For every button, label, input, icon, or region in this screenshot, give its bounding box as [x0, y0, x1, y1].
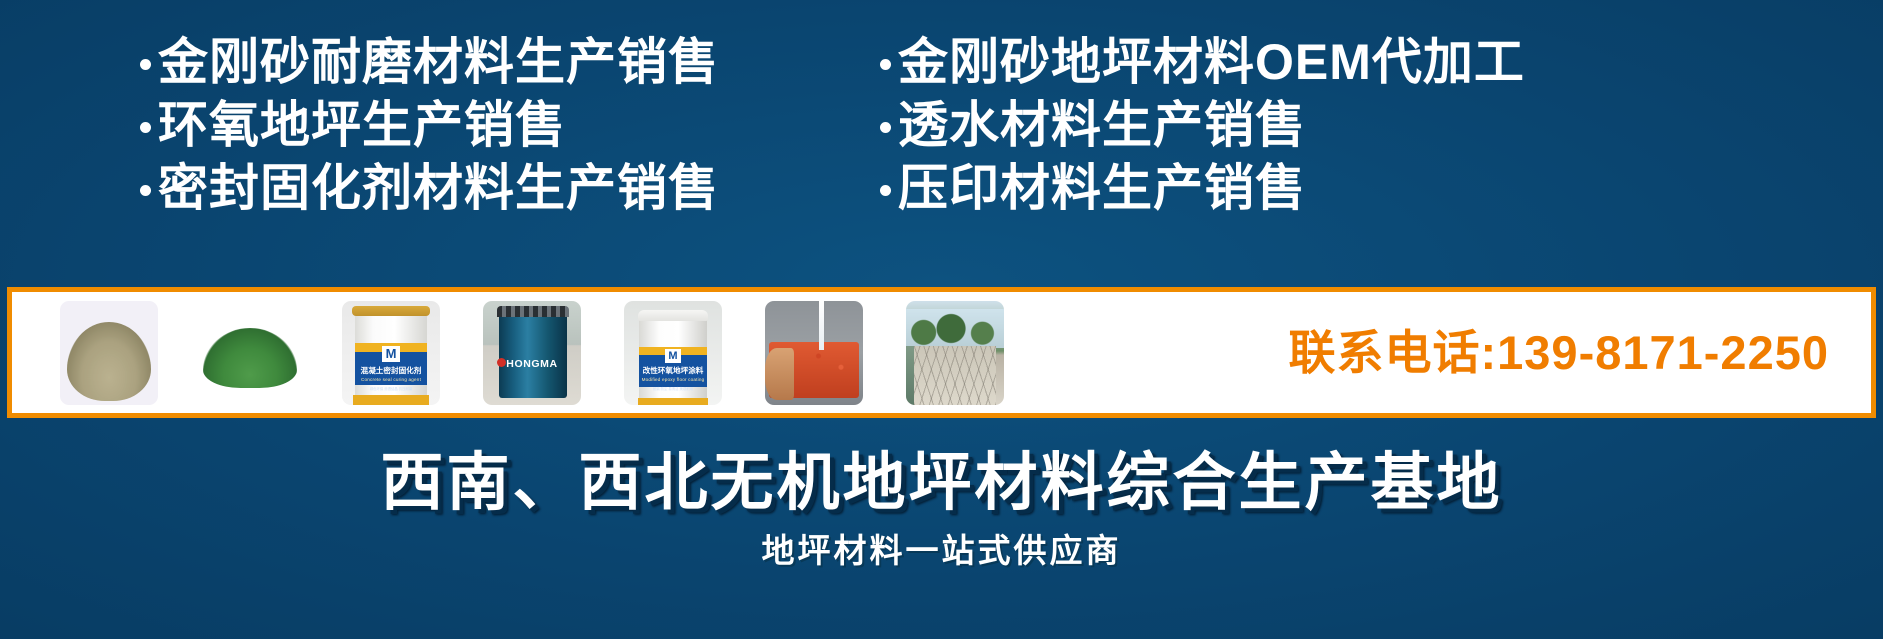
- feature-label: 密封固化剂材料生产销售: [158, 160, 719, 216]
- pail-lid: [638, 310, 709, 321]
- pail-lid: [352, 306, 430, 316]
- feature-item: 透水材料生产销售: [880, 97, 1580, 153]
- feature-label: 金刚砂耐磨材料生产销售: [158, 34, 719, 90]
- feature-item: 环氧地坪生产销售: [140, 97, 880, 153]
- headline: 西南、西北无机地坪材料综合生产基地: [0, 448, 1883, 518]
- pail-label-sub: 耐磨 防尘 易清洁 美观耐用: [624, 386, 722, 391]
- feature-item: 压印材料生产销售: [880, 160, 1580, 216]
- bullet-icon: [880, 59, 891, 70]
- pail-graphic: M 改性环氧地坪涂料 Modified epoxy floor coating …: [624, 301, 722, 405]
- drum-rim: [497, 306, 570, 317]
- subheadline: 地坪材料一站式供应商: [0, 532, 1883, 570]
- drum-body: [499, 310, 568, 398]
- bullet-icon: [140, 122, 151, 133]
- feature-column-left: 金刚砂耐磨材料生产销售 环氧地坪生产销售 密封固化剂材料生产销售: [140, 34, 880, 223]
- brand-logo-icon: M: [382, 346, 400, 362]
- product-thumbnail-epoxy-floor-coating-pail[interactable]: M 改性环氧地坪涂料 Modified epoxy floor coating …: [624, 301, 722, 405]
- pail-label-sub: 绿色环保 渗透结晶 抗压耐磨: [342, 386, 440, 391]
- bullet-icon: [880, 185, 891, 196]
- product-thumbnail-grey-abrasive-powder[interactable]: [60, 301, 158, 405]
- product-thumbnail-list: M 混凝土密封固化剂 Concrete seal curing agent 绿色…: [12, 292, 1004, 413]
- footer-text-block: 西南、西北无机地坪材料综合生产基地 地坪材料一站式供应商: [0, 448, 1883, 570]
- bullet-icon: [880, 122, 891, 133]
- paver-path: [914, 346, 996, 404]
- trees-background: [906, 309, 1004, 349]
- water-stream: [819, 301, 824, 351]
- product-thumbnail-permeable-paver-walkway[interactable]: [906, 301, 1004, 405]
- product-thumbnail-hongma-blue-drum[interactable]: HONGMA: [483, 301, 581, 405]
- drum-brand-label: HONGMA: [483, 358, 581, 370]
- pail-base: [353, 395, 429, 404]
- pail-label-cn: 改性环氧地坪涂料: [626, 365, 719, 375]
- feature-label: 压印材料生产销售: [898, 160, 1306, 216]
- hand-graphic: [765, 348, 794, 400]
- pail-base: [638, 398, 709, 404]
- contact-phone[interactable]: 联系电话:139-8171-2250: [1289, 329, 1872, 376]
- feature-item: 金刚砂地坪材料OEM代加工: [880, 34, 1580, 90]
- feature-item: 密封固化剂材料生产销售: [140, 160, 880, 216]
- feature-label: 金刚砂地坪材料OEM代加工: [898, 34, 1525, 90]
- bullet-icon: [140, 59, 151, 70]
- product-thumbnail-concrete-sealer-pail[interactable]: M 混凝土密封固化剂 Concrete seal curing agent 绿色…: [342, 301, 440, 405]
- feature-label: 透水材料生产销售: [898, 97, 1306, 153]
- feature-label: 环氧地坪生产销售: [158, 97, 566, 153]
- product-thumbnail-red-permeable-aggregate[interactable]: [765, 301, 863, 405]
- advertising-banner: 金刚砂耐磨材料生产销售 环氧地坪生产销售 密封固化剂材料生产销售 金刚砂地坪材料…: [0, 0, 1883, 639]
- bullet-icon: [140, 185, 151, 196]
- product-strip: M 混凝土密封固化剂 Concrete seal curing agent 绿色…: [7, 287, 1876, 418]
- pail-label-en: Modified epoxy floor coating: [624, 377, 722, 382]
- feature-column-right: 金刚砂地坪材料OEM代加工 透水材料生产销售 压印材料生产销售: [880, 34, 1580, 223]
- feature-lists: 金刚砂耐磨材料生产销售 环氧地坪生产销售 密封固化剂材料生产销售 金刚砂地坪材料…: [0, 34, 1883, 223]
- feature-item: 金刚砂耐磨材料生产销售: [140, 34, 880, 90]
- pail-graphic: M 混凝土密封固化剂 Concrete seal curing agent 绿色…: [342, 301, 440, 405]
- pail-label-cn: 混凝土密封固化剂: [344, 365, 437, 375]
- pail-label-en: Concrete seal curing agent: [342, 377, 440, 382]
- product-thumbnail-green-abrasive-powder[interactable]: [201, 301, 299, 405]
- brand-logo-icon: M: [665, 349, 681, 363]
